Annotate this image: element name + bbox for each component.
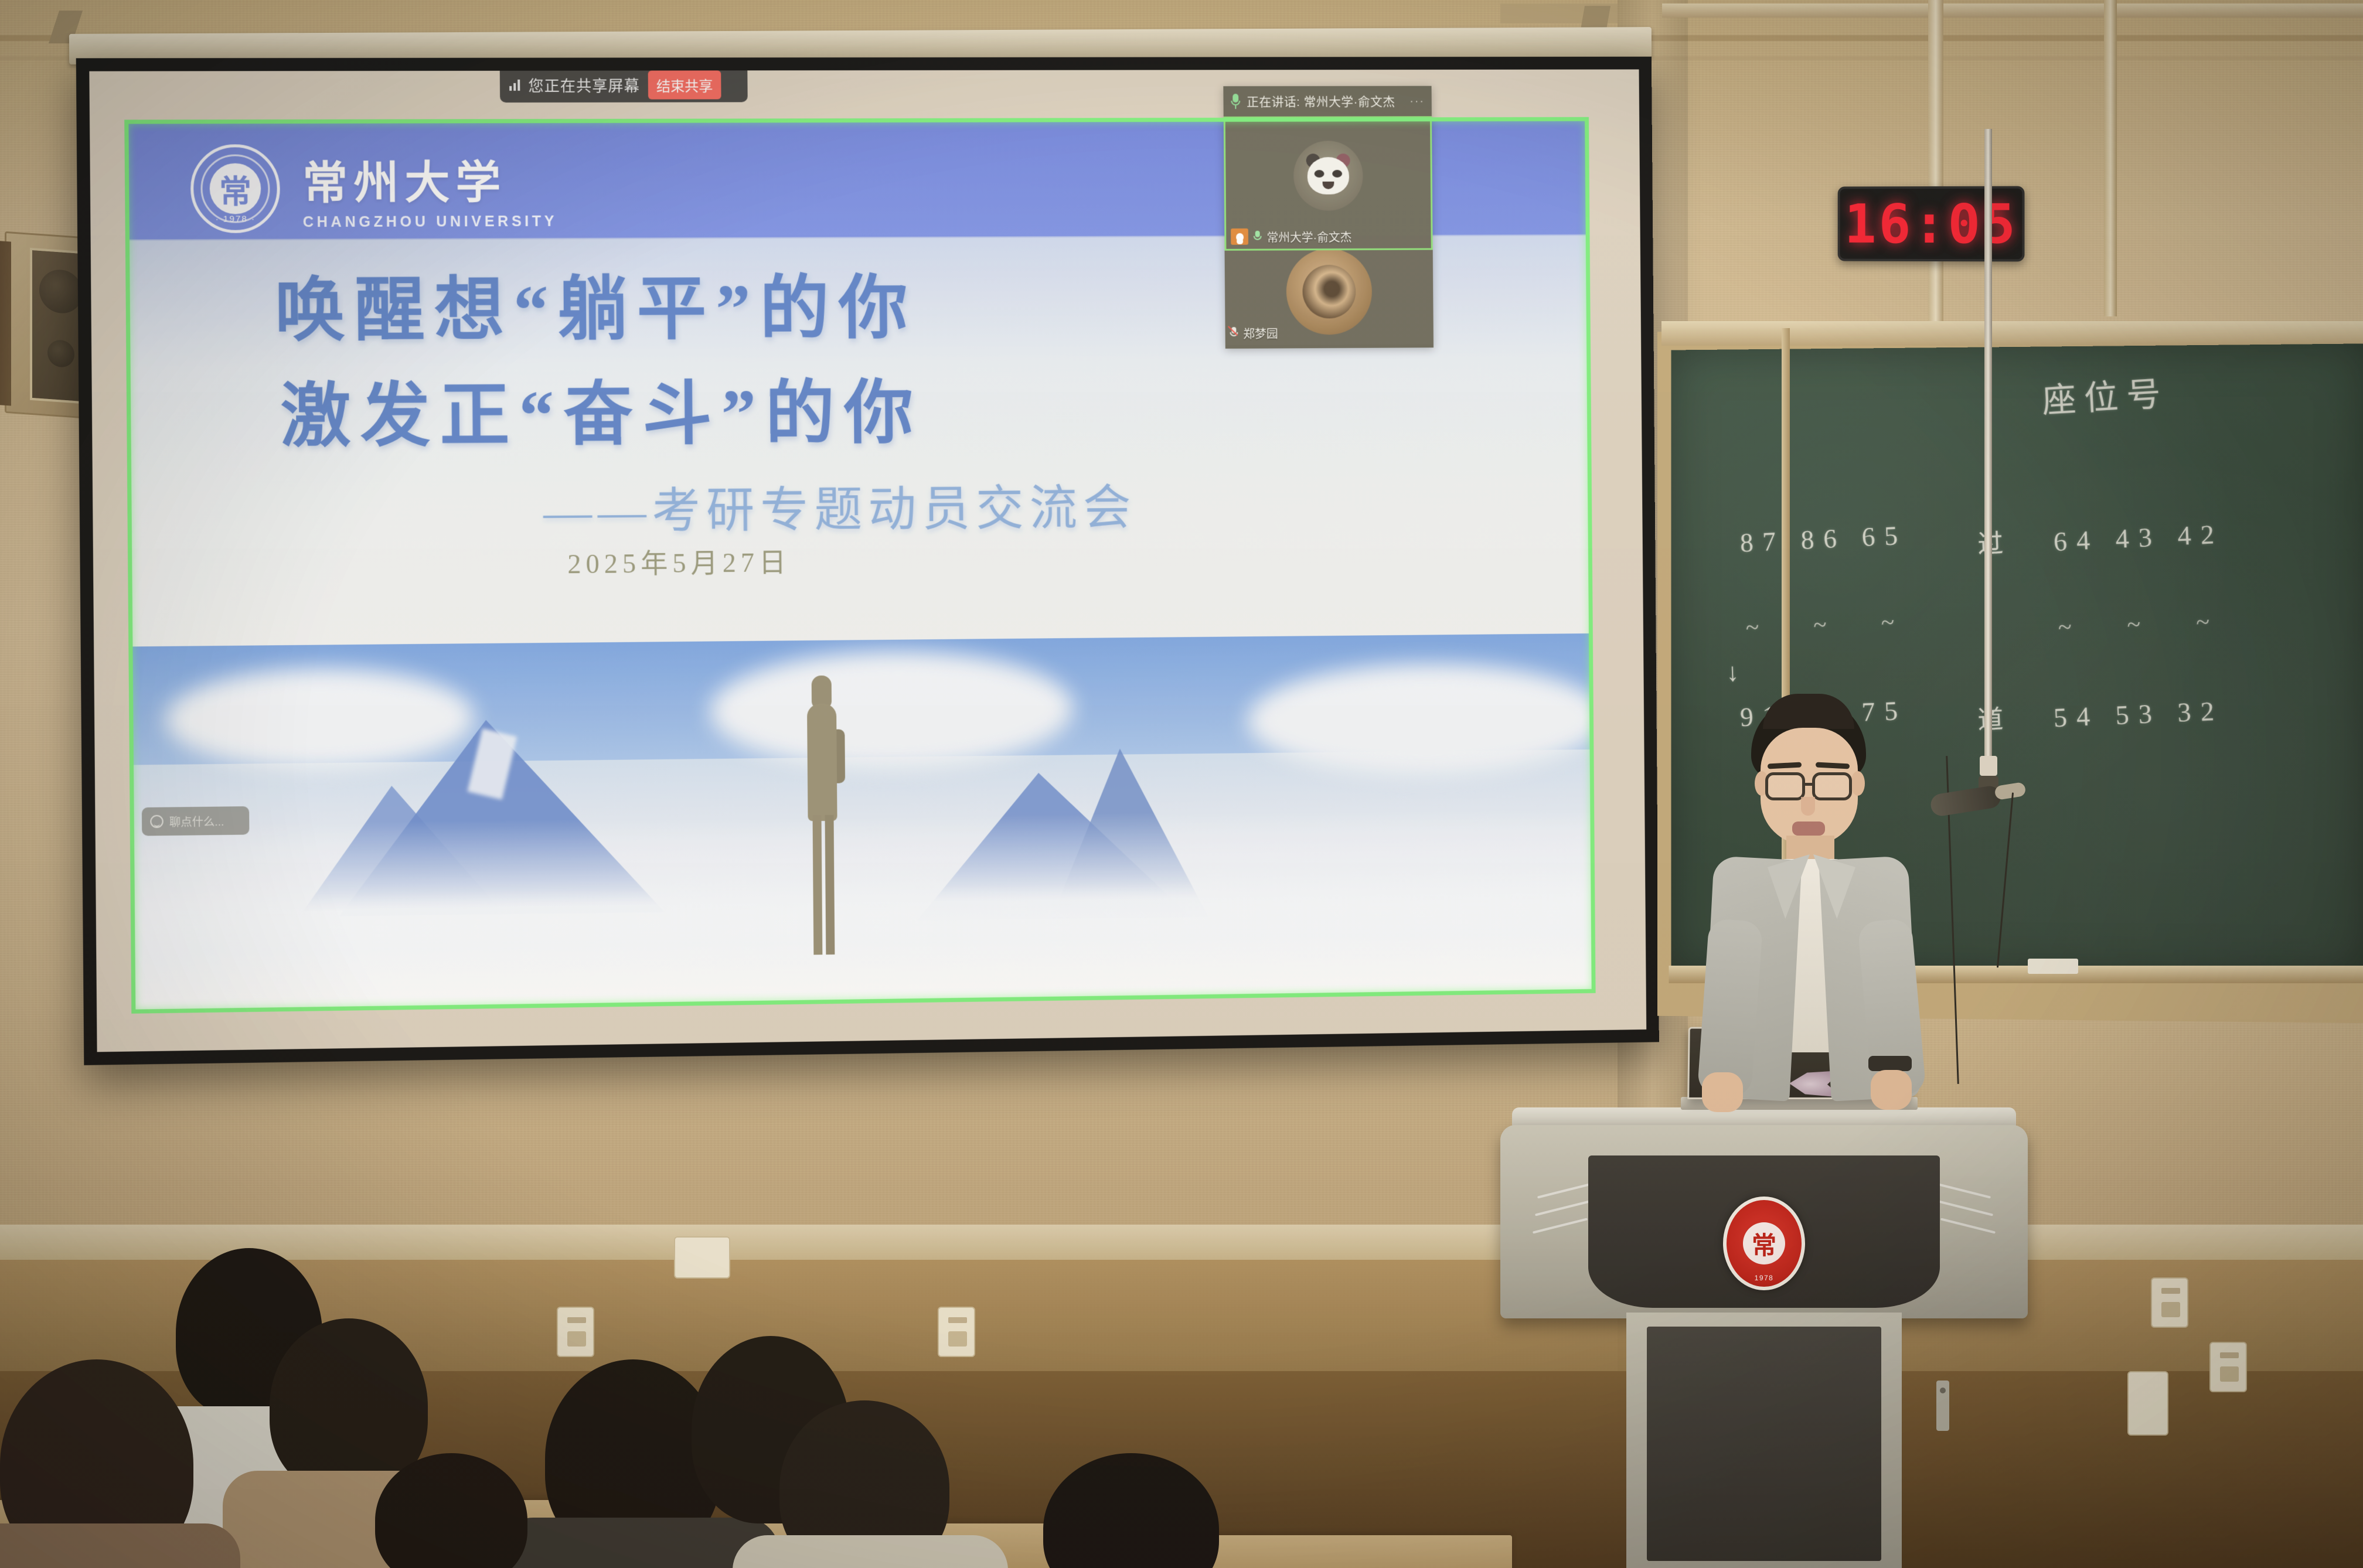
power-outlet-icon xyxy=(674,1236,730,1279)
host-badge-icon xyxy=(1231,229,1248,245)
participant-tile-footer: 郑梦园 xyxy=(1225,320,1434,345)
lectern-fin xyxy=(1940,1218,1996,1233)
participant-tile-active[interactable]: 常州大学·俞文杰 xyxy=(1224,116,1433,251)
slide-subtitle: ——考研专题动员交流会 xyxy=(543,465,1535,542)
projection-screen: 常 · 1978 · 常州大学 CHANGZHOU UNIVERSITY 唤醒想… xyxy=(76,57,1659,1065)
power-outlet-icon xyxy=(2151,1277,2188,1328)
microphone-icon xyxy=(1230,94,1241,109)
projection-screen-surface: 常 · 1978 · 常州大学 CHANGZHOU UNIVERSITY 唤醒想… xyxy=(89,69,1646,1052)
chat-input-placeholder: 聊点什么... xyxy=(169,813,224,829)
lectern-fin xyxy=(1938,1200,1993,1216)
fog-layer-2 xyxy=(128,877,1595,1014)
university-emblem-icon: 常 1978 xyxy=(1723,1197,1805,1290)
university-seal-icon: 常 · 1978 · xyxy=(190,144,281,233)
chat-input[interactable]: 聊点什么... xyxy=(142,806,250,836)
mic-muted-icon xyxy=(1230,327,1238,339)
smiley-icon[interactable] xyxy=(150,815,164,828)
lectern-cabinet-door[interactable] xyxy=(1647,1327,1881,1561)
classroom-scene: 常 · 1978 · 常州大学 CHANGZHOU UNIVERSITY 唤醒想… xyxy=(0,0,2363,1568)
wall-conduit-horizontal xyxy=(1662,4,2363,18)
lectern-latch[interactable] xyxy=(1936,1380,1949,1431)
blackboard-arrow: ↓ xyxy=(1726,657,1739,687)
seal-glyph: 常 xyxy=(219,165,252,212)
seal-year: · 1978 · xyxy=(194,214,277,224)
presenter-ear-right xyxy=(1851,771,1865,796)
microphone-pole xyxy=(1984,129,1992,762)
lectern-fin xyxy=(1533,1218,1588,1233)
microphone-mount xyxy=(1980,756,1997,776)
presenter-mouth xyxy=(1792,822,1825,836)
more-options-icon[interactable]: ··· xyxy=(1409,94,1425,108)
university-logo: 常 · 1978 · 常州大学 CHANGZHOU UNIVERSITY xyxy=(190,144,558,233)
logo-text-block: 常州大学 CHANGZHOU UNIVERSITY xyxy=(302,146,557,231)
presenter-hand-left xyxy=(1702,1072,1743,1112)
emblem-year: 1978 xyxy=(1727,1274,1802,1282)
wall-conduit-vertical xyxy=(1928,0,1943,328)
power-outlet-icon xyxy=(2209,1342,2247,1392)
avatar xyxy=(1293,141,1363,211)
university-name-en: CHANGZHOU UNIVERSITY xyxy=(303,213,558,231)
panda-avatar-icon xyxy=(1308,157,1350,195)
hiker-leg-left xyxy=(812,815,822,955)
glasses-lens-right xyxy=(1812,772,1852,800)
glasses-bridge xyxy=(1804,783,1814,786)
participant-tile-footer: 常州大学·俞文杰 xyxy=(1226,224,1431,249)
mic-unmuted-icon xyxy=(1254,231,1262,243)
stop-share-button[interactable]: 结束共享 xyxy=(648,70,721,99)
emblem-glyph: 常 xyxy=(1752,1226,1776,1262)
blackboard-top-rail xyxy=(1661,321,2363,346)
lectern-fin xyxy=(1535,1200,1590,1216)
meeting-participant-panel[interactable]: 正在讲话: 常州大学·俞文杰 ··· xyxy=(1223,86,1434,349)
power-outlet-icon xyxy=(938,1307,975,1357)
presenter-wristwatch xyxy=(1868,1056,1912,1071)
hiker-torso xyxy=(807,704,837,822)
headline-line-2: 激发正“奋斗”的你 xyxy=(275,359,1286,471)
speaker-side-panel xyxy=(0,240,11,405)
presenter-nose xyxy=(1801,797,1815,816)
signal-bars-icon xyxy=(509,79,520,91)
speaker-woofer xyxy=(39,268,83,315)
lectern: 常 1978 xyxy=(1500,1107,2028,1568)
power-outlet-icon xyxy=(557,1307,594,1357)
wall-conduit-vertical-2 xyxy=(2104,0,2117,316)
presenter xyxy=(1682,697,1934,1119)
blackboard-eraser xyxy=(2028,959,2078,974)
meeting-panel-header: 正在讲话: 常州大学·俞文杰 ··· xyxy=(1223,86,1432,117)
glasses-icon xyxy=(1765,772,1805,800)
presenter-hair-top xyxy=(1763,694,1854,729)
slide-mountain-illustration xyxy=(128,633,1595,1014)
lectern-fin xyxy=(1936,1182,1991,1198)
participant-tile[interactable]: 郑梦园 xyxy=(1225,250,1434,345)
active-speaker-label: 正在讲话: 常州大学·俞文杰 xyxy=(1247,93,1395,110)
university-name-cn: 常州大学 xyxy=(302,146,557,212)
speaker-tweeter xyxy=(47,339,74,368)
participant-name: 常州大学·俞文杰 xyxy=(1266,228,1351,245)
blackboard-title: 座位号 xyxy=(2041,366,2170,422)
digital-wall-clock: 16:05 xyxy=(1838,186,2025,262)
audience-body xyxy=(733,1535,1008,1568)
lectern-front-panel: 常 1978 xyxy=(1588,1155,1940,1308)
screen-share-toast: 您正在共享屏幕 结束共享 xyxy=(500,69,748,103)
participant-name: 郑梦园 xyxy=(1243,324,1278,341)
hiker-silhouette xyxy=(801,676,845,957)
slide-date: 2025年5月27日 xyxy=(567,541,791,581)
headline-line-1: 唤醒想“躺平”的你 xyxy=(274,254,1285,364)
slide-headline: 唤醒想“躺平”的你 激发正“奋斗”的你 xyxy=(274,254,1286,470)
lectern-fin xyxy=(1537,1182,1592,1198)
hiker-leg-right xyxy=(825,815,835,955)
lectern-body: 常 1978 xyxy=(1500,1125,2028,1318)
screen-share-status: 您正在共享屏幕 xyxy=(528,74,640,96)
presenter-hand-right xyxy=(1871,1070,1912,1110)
power-outlet-icon xyxy=(2127,1371,2168,1436)
audience-body xyxy=(0,1523,240,1568)
